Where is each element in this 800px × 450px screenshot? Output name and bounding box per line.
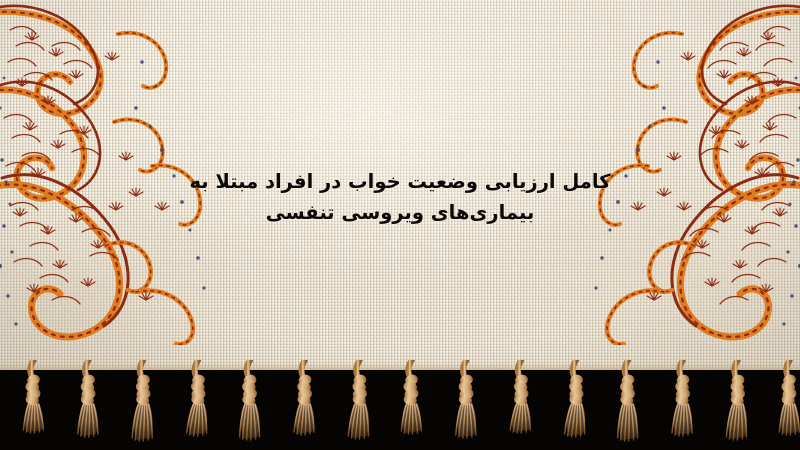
title-line-2: بیماری‌های ویروسی تنفسی <box>0 197 800 228</box>
slide-title: کامل ارزیابی وضعیت خواب در افراد مبتلا ب… <box>0 166 800 228</box>
black-backdrop <box>0 370 800 450</box>
slide-canvas: کامل ارزیابی وضعیت خواب در افراد مبتلا ب… <box>0 0 800 450</box>
title-line-1: کامل ارزیابی وضعیت خواب در افراد مبتلا ب… <box>0 166 800 197</box>
